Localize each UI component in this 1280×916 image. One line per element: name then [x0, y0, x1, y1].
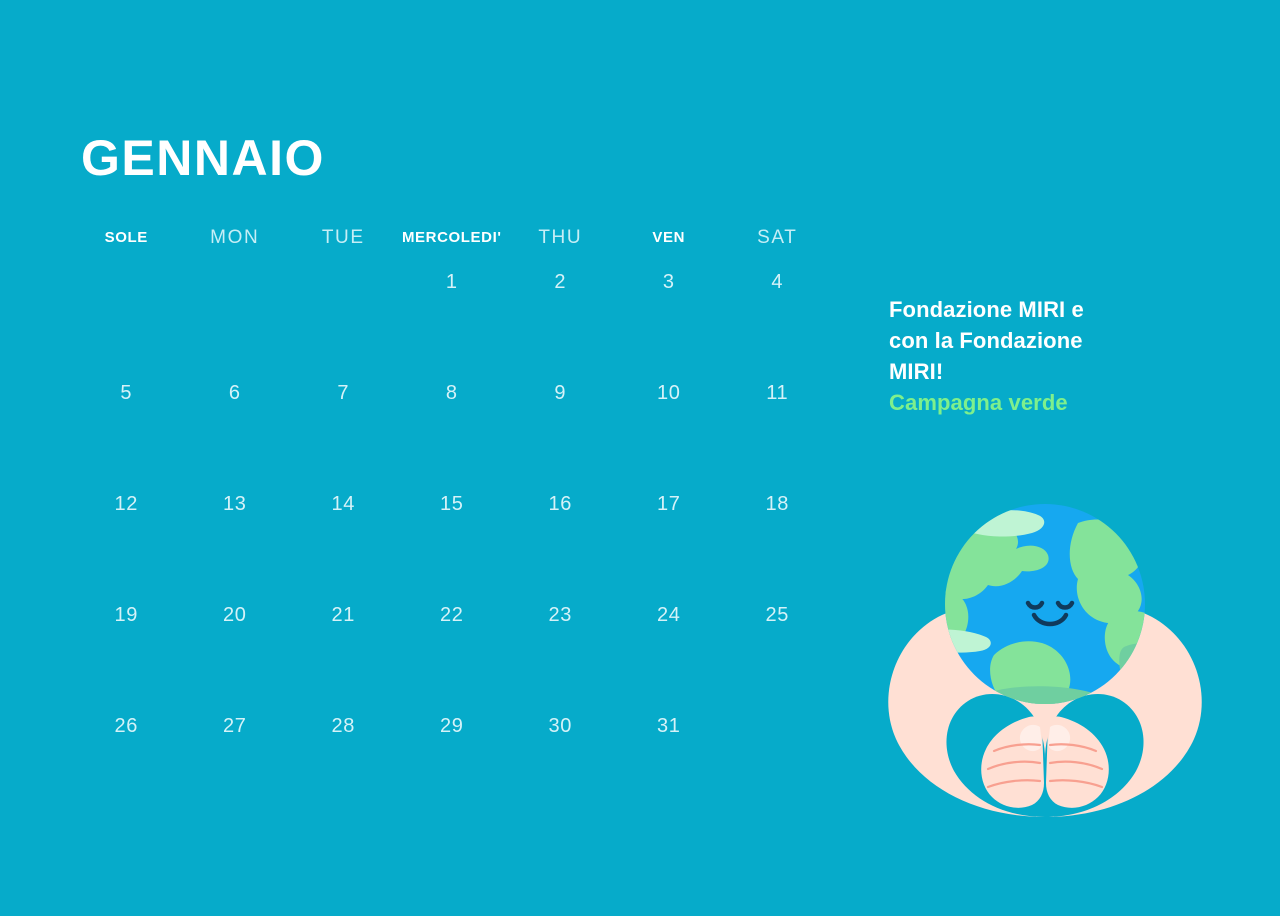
day-cell[interactable]: 23	[506, 603, 615, 627]
day-cell[interactable]: 28	[289, 714, 398, 738]
day-number: 1	[398, 270, 507, 294]
day-number: 18	[723, 492, 832, 516]
weekday-header-thursday: THU	[506, 228, 615, 248]
day-number: 15	[398, 492, 507, 516]
day-number: 12	[72, 492, 181, 516]
day-number: 28	[289, 714, 398, 738]
day-number: 23	[506, 603, 615, 627]
day-number: 2	[506, 270, 615, 294]
day-cell[interactable]: 12	[72, 492, 181, 516]
weekday-header-tuesday: TUE	[289, 228, 398, 248]
day-cell[interactable]: 8	[398, 381, 507, 405]
day-number: 7	[289, 381, 398, 405]
day-cell[interactable]: 4	[723, 270, 832, 294]
day-cell[interactable]: 7	[289, 381, 398, 405]
day-cell[interactable]: 16	[506, 492, 615, 516]
day-number: 16	[506, 492, 615, 516]
calendar-week-row: 26 27 28 29 30 31	[72, 714, 832, 825]
weekday-label: MERCOLEDI'	[402, 226, 502, 246]
promo-panel: Fondazione MIRI e con la Fondazione MIRI…	[889, 294, 1199, 418]
day-number: 25	[723, 603, 832, 627]
weekday-label: TUE	[322, 227, 365, 248]
promo-subheading: Campagna verde	[889, 387, 1149, 418]
day-cell[interactable]: 30	[506, 714, 615, 738]
day-number: 21	[289, 603, 398, 627]
calendar-week-row: 5 6 7 8 9 10 11	[72, 381, 832, 492]
day-number: 17	[615, 492, 724, 516]
day-number: 30	[506, 714, 615, 738]
day-cell[interactable]: 10	[615, 381, 724, 405]
day-cell[interactable]: 6	[181, 381, 290, 405]
day-number: 11	[723, 381, 832, 405]
hands-holding-earth-icon	[882, 487, 1208, 817]
day-number: 6	[181, 381, 290, 405]
calendar-week-row: 12 13 14 15 16 17 18	[72, 492, 832, 603]
promo-heading: Fondazione MIRI e con la Fondazione MIRI…	[889, 294, 1129, 387]
day-number: 20	[181, 603, 290, 627]
day-number: 31	[615, 714, 724, 738]
day-number: 14	[289, 492, 398, 516]
weekday-label: THU	[538, 227, 582, 248]
day-cell[interactable]: 17	[615, 492, 724, 516]
day-number: 13	[181, 492, 290, 516]
day-cell[interactable]: 25	[723, 603, 832, 627]
calendar-grid: SOLE MON TUE MERCOLEDI' THU VEN SAT	[72, 228, 832, 825]
day-cell[interactable]: 1	[398, 270, 507, 294]
day-cell[interactable]: 21	[289, 603, 398, 627]
weekday-label: VEN	[652, 226, 685, 246]
day-cell[interactable]: 29	[398, 714, 507, 738]
day-cell[interactable]: 24	[615, 603, 724, 627]
day-number: 8	[398, 381, 507, 405]
weekday-header-monday: MON	[181, 228, 290, 248]
day-cell[interactable]: 14	[289, 492, 398, 516]
day-number: 27	[181, 714, 290, 738]
day-cell[interactable]: 15	[398, 492, 507, 516]
weekday-label: MON	[210, 227, 259, 248]
day-number: 29	[398, 714, 507, 738]
day-cell[interactable]: 2	[506, 270, 615, 294]
calendar-week-row: 19 20 21 22 23 24 25	[72, 603, 832, 714]
day-number: 19	[72, 603, 181, 627]
day-cell[interactable]: 11	[723, 381, 832, 405]
weekday-header-sunday: SOLE	[72, 228, 181, 248]
weekday-header-friday: VEN	[615, 228, 724, 248]
day-cell[interactable]: 22	[398, 603, 507, 627]
weekday-label: SOLE	[105, 226, 148, 246]
day-cell[interactable]: 27	[181, 714, 290, 738]
day-cell[interactable]: 31	[615, 714, 724, 738]
weekday-header-saturday: SAT	[723, 228, 832, 248]
day-number: 5	[72, 381, 181, 405]
day-number: 26	[72, 714, 181, 738]
weekday-header-row: SOLE MON TUE MERCOLEDI' THU VEN SAT	[72, 228, 832, 270]
weekday-header-wednesday: MERCOLEDI'	[398, 228, 507, 248]
calendar-week-row: 1 2 3 4	[72, 270, 832, 381]
weekday-label: SAT	[757, 227, 797, 248]
day-cell[interactable]: 26	[72, 714, 181, 738]
day-cell[interactable]: 20	[181, 603, 290, 627]
day-number: 9	[506, 381, 615, 405]
day-cell[interactable]: 3	[615, 270, 724, 294]
day-number: 4	[723, 270, 832, 294]
day-number: 10	[615, 381, 724, 405]
calendar-page: GENNAIO SOLE MON TUE MERCOLEDI' THU VEN	[0, 0, 1280, 916]
day-cell[interactable]: 18	[723, 492, 832, 516]
day-cell[interactable]: 19	[72, 603, 181, 627]
day-number: 3	[615, 270, 724, 294]
day-cell[interactable]: 5	[72, 381, 181, 405]
day-number: 24	[615, 603, 724, 627]
day-number: 22	[398, 603, 507, 627]
page-title: GENNAIO	[81, 133, 325, 183]
day-cell[interactable]: 9	[506, 381, 615, 405]
day-cell[interactable]: 13	[181, 492, 290, 516]
